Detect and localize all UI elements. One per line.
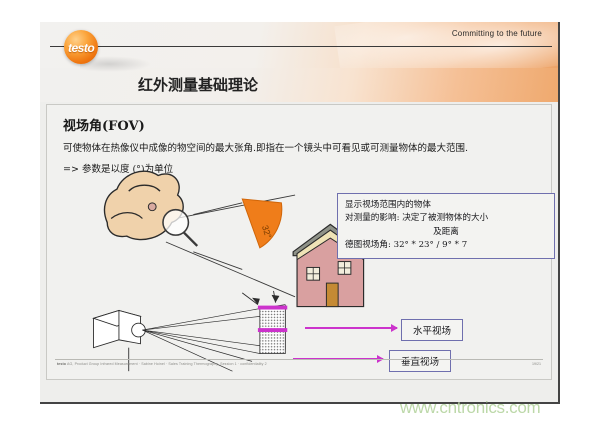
footer-detail: AG, Product Group Infrared Measurement ·… (67, 362, 267, 366)
section-heading: 视场角(FOV) (63, 115, 145, 134)
title-band (40, 68, 558, 102)
slide-body: 视场角(FOV) 可使物体在热像仪中成像的物空间的最大张角.即指在一个镜头中可看… (46, 104, 552, 380)
tagline: Committing to the future (452, 29, 542, 38)
site-watermark: www.cntronics.com (400, 398, 540, 418)
label-horizontal-fov: 水平视场 (401, 319, 463, 341)
footer-page-number: 19/21 (532, 362, 541, 366)
callout-line-1: 显示视场范围内的物体 (345, 199, 547, 212)
person-magnifier-icon (105, 171, 198, 246)
wedge-angle-label: 32° (260, 224, 274, 240)
callout-box: 显示视场范围内的物体 对测量的影响: 决定了被测物体的大小 及距离 德图视场角:… (337, 193, 555, 259)
callout-line-2: 对测量的影响: 决定了被测物体的大小 (345, 212, 547, 225)
hatched-target-icon (260, 309, 285, 354)
body-paragraph-1: 可使物体在热像仪中成像的物空间的最大张角.即指在一个镜头中可看见或可测量物体的最… (63, 140, 468, 154)
arrow-to-horizontal-fov (305, 327, 397, 329)
logo-wordmark: testo (68, 41, 128, 55)
footer-brand: testo (57, 362, 66, 366)
footer-rule (55, 359, 543, 360)
slide-canvas: Committing to the future testo 红外测量基础理论 … (40, 22, 560, 404)
slide-footer: testo AG, Product Group Infrared Measure… (55, 359, 543, 373)
body-paragraph-2: => 参数是以度 (°)为单位 (63, 161, 173, 175)
page-title: 红外测量基础理论 (138, 74, 258, 95)
callout-line-4: 德图视场角: 32° * 23° / 9° * 7 (345, 239, 547, 252)
footer-text: testo AG, Product Group Infrared Measure… (57, 362, 267, 366)
callout-line-3: 及距离 (345, 226, 547, 239)
fov-wedge: 32° (242, 199, 282, 248)
